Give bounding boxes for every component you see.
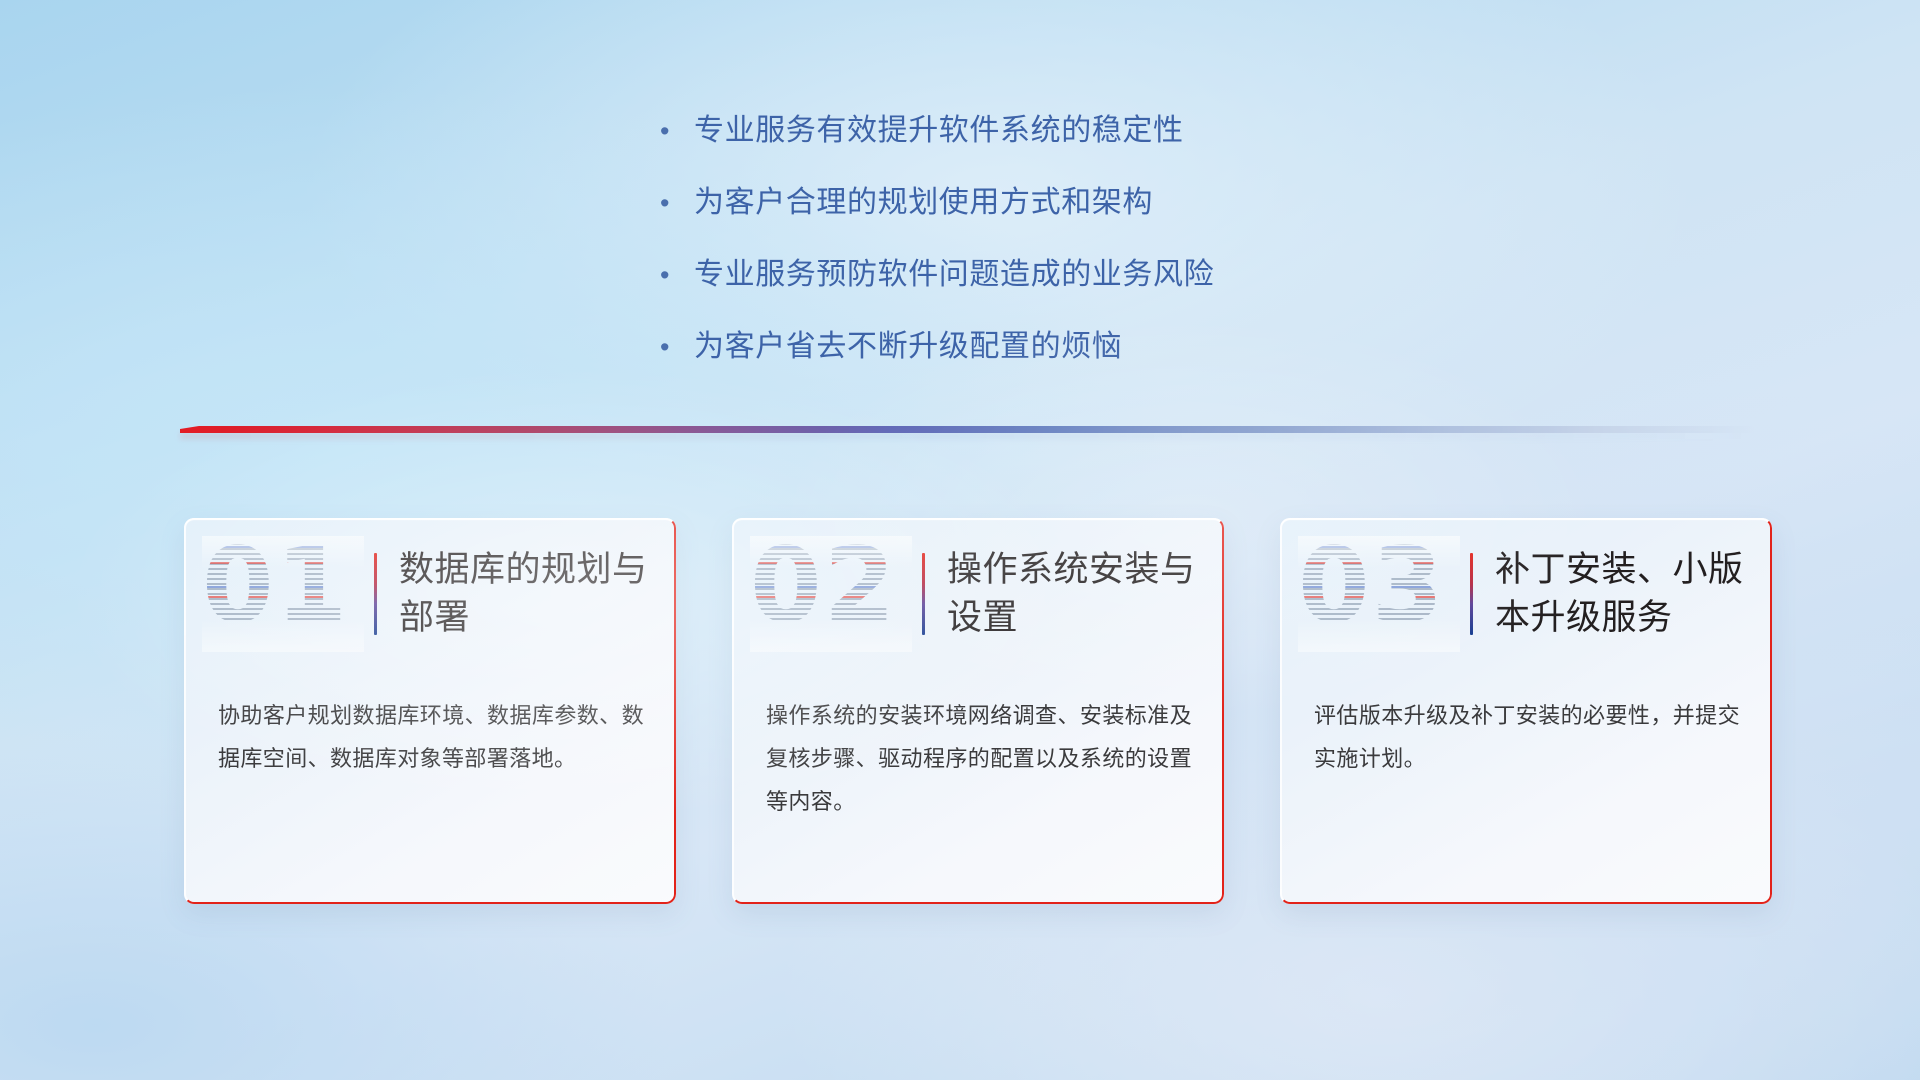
card-body: 协助客户规划数据库环境、数据库参数、数据库空间、数据库对象等部署落地。 — [184, 670, 676, 780]
card-header: 01 01 数据库的规划与部署 — [184, 518, 676, 670]
card-title: 数据库的规划与部署 — [399, 546, 650, 642]
card-row: 01 01 数据库的规划与部署 协助客户规划数据库环境、数据库参数、数据库空间、… — [184, 518, 1772, 904]
bullet-text: 专业服务预防软件问题造成的业务风险 — [694, 254, 1214, 296]
card-header: 02 02 操作系统安装与设置 — [732, 518, 1224, 670]
service-card-03[interactable]: 03 03 补丁安装、小版本升级服务 评估版本升级及补丁安装的必要性，并提交实施… — [1280, 518, 1772, 904]
slide-root: • 专业服务有效提升软件系统的稳定性 • 为客户合理的规划使用方式和架构 • 专… — [0, 0, 1920, 1080]
bullet-dot-icon: • — [660, 254, 694, 296]
bullet-text: 为客户合理的规划使用方式和架构 — [694, 182, 1153, 224]
bullet-text: 为客户省去不断升级配置的烦恼 — [694, 326, 1122, 368]
card-number-tint: 02 — [750, 528, 912, 644]
title-accent-bar — [374, 553, 377, 635]
card-number-tint: 01 — [202, 528, 364, 644]
card-header: 03 03 补丁安装、小版本升级服务 — [1280, 518, 1772, 670]
bullet-dot-icon: • — [660, 326, 694, 368]
bullet-text: 专业服务有效提升软件系统的稳定性 — [694, 110, 1184, 152]
card-description: 评估版本升级及补丁安装的必要性，并提交实施计划。 — [1314, 694, 1740, 780]
divider-bar — [180, 426, 1755, 433]
title-accent-bar — [1470, 553, 1473, 635]
card-title: 补丁安装、小版本升级服务 — [1495, 546, 1746, 642]
card-number-tint: 03 — [1298, 528, 1460, 644]
bullet-item: • 为客户省去不断升级配置的烦恼 — [660, 326, 1520, 368]
card-description: 操作系统的安装环境网络调查、安装标准及复核步骤、驱动程序的配置以及系统的设置等内… — [766, 694, 1192, 823]
card-body: 操作系统的安装环境网络调查、安装标准及复核步骤、驱动程序的配置以及系统的设置等内… — [732, 670, 1224, 823]
service-card-01[interactable]: 01 01 数据库的规划与部署 协助客户规划数据库环境、数据库参数、数据库空间、… — [184, 518, 676, 904]
bullet-list: • 专业服务有效提升软件系统的稳定性 • 为客户合理的规划使用方式和架构 • 专… — [660, 110, 1520, 398]
bullet-dot-icon: • — [660, 110, 694, 152]
card-number-watermark: 02 02 — [750, 536, 912, 652]
card-number-watermark: 03 03 — [1298, 536, 1460, 652]
bullet-dot-icon: • — [660, 182, 694, 224]
card-number-watermark: 01 01 — [202, 536, 364, 652]
card-title: 操作系统安装与设置 — [947, 546, 1198, 642]
section-divider — [180, 423, 1755, 439]
card-description: 协助客户规划数据库环境、数据库参数、数据库空间、数据库对象等部署落地。 — [218, 694, 644, 780]
title-accent-bar — [922, 553, 925, 635]
bullet-item: • 为客户合理的规划使用方式和架构 — [660, 182, 1520, 224]
service-card-02[interactable]: 02 02 操作系统安装与设置 操作系统的安装环境网络调查、安装标准及复核步骤、… — [732, 518, 1224, 904]
bullet-item: • 专业服务预防软件问题造成的业务风险 — [660, 254, 1520, 296]
card-body: 评估版本升级及补丁安装的必要性，并提交实施计划。 — [1280, 670, 1772, 780]
bullet-item: • 专业服务有效提升软件系统的稳定性 — [660, 110, 1520, 152]
divider-glow — [180, 433, 1755, 439]
